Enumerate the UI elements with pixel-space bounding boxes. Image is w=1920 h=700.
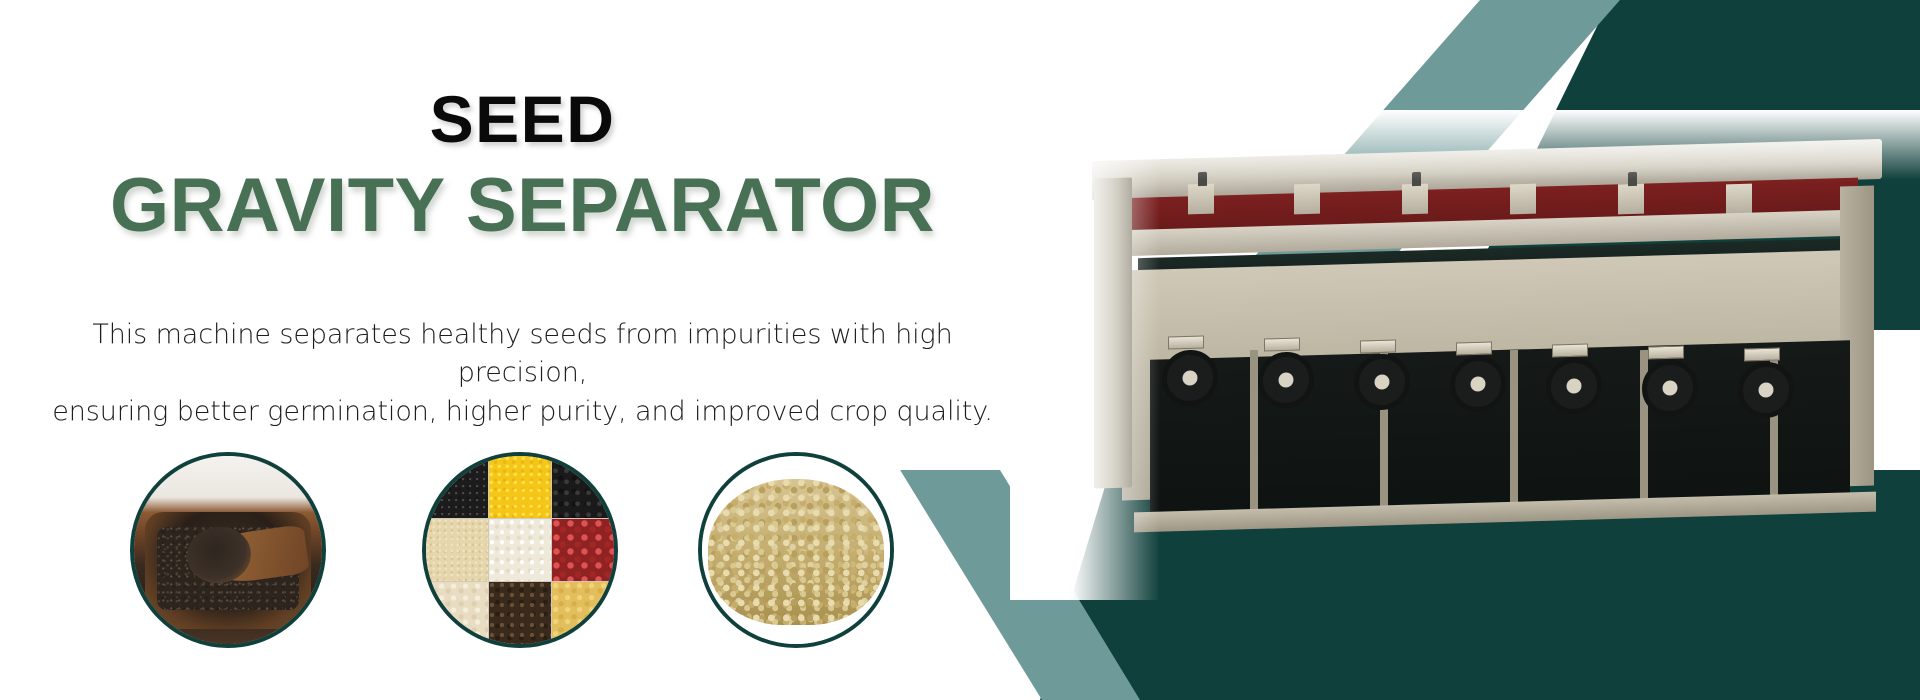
machine-panel-clip	[1510, 184, 1536, 215]
grain-cell-peppercorns	[489, 582, 551, 644]
machine-top-fade	[1040, 110, 1920, 180]
grain-cell-white-chickpeas	[489, 519, 551, 581]
machine-outlet-tag	[1456, 341, 1492, 355]
chia-seeds-image	[134, 456, 322, 644]
machine-outlet-tag	[1648, 345, 1684, 359]
grain-cell-red-kidney-beans	[552, 519, 614, 581]
subtitle-line-2: ensuring better germination, higher puri…	[40, 393, 1005, 431]
grain-cell-yellow-peas	[489, 456, 551, 518]
machine-panel-clip	[1402, 184, 1428, 215]
machine-outlet-tag	[1552, 343, 1588, 357]
machine-panel-clip	[1294, 184, 1320, 215]
machine-outlet-tag	[1744, 347, 1780, 361]
machine-left-fade	[1010, 120, 1160, 600]
grain-cell-millet	[426, 519, 488, 581]
machine-outlet-divider	[1510, 350, 1518, 510]
page-title: GRAVITY SEPARATOR	[0, 168, 1045, 244]
machine-outlet-divider	[1250, 350, 1258, 510]
mixed-grains-image	[426, 456, 614, 644]
machine-panel-clip	[1726, 184, 1752, 215]
seed-circle-coriander-seeds: Pile of coriander seeds	[698, 452, 894, 648]
machine-outlet-tag	[1360, 339, 1396, 353]
seed-gravity-separator-banner: SEED GRAVITY SEPARATOR This machine sepa…	[0, 0, 1920, 700]
machine-outlet-tag	[1168, 335, 1204, 349]
subtitle-line-1: This machine separates healthy seeds fro…	[40, 316, 1005, 393]
machine-outlet-tag	[1264, 337, 1300, 351]
page-subtitle: This machine separates healthy seeds fro…	[40, 316, 1005, 431]
machine-panel-clip	[1188, 184, 1214, 215]
seed-circle-chia-seeds: Chia seeds in a wooden bowl with wooden …	[130, 452, 326, 648]
machine-panel-clip	[1618, 184, 1644, 215]
grain-cell-soybeans	[552, 582, 614, 644]
coriander-seed-pile	[708, 479, 885, 626]
grain-cell-black-beans	[552, 456, 614, 518]
page-eyebrow-title: SEED	[0, 86, 1045, 152]
seed-circle-mixed-grains: Grid of assorted pulses and grains	[422, 452, 618, 648]
grain-cell-rolled-oats	[426, 582, 488, 644]
text-column: SEED GRAVITY SEPARATOR This machine sepa…	[0, 0, 1060, 700]
seed-sample-circles: Chia seeds in a wooden bowl with wooden …	[130, 452, 950, 652]
grain-cell-black-sesame	[426, 456, 488, 518]
coriander-seeds-image	[702, 456, 890, 644]
seed-gravity-separator-machine: Seed gravity separator machine photograp…	[1080, 150, 1880, 580]
